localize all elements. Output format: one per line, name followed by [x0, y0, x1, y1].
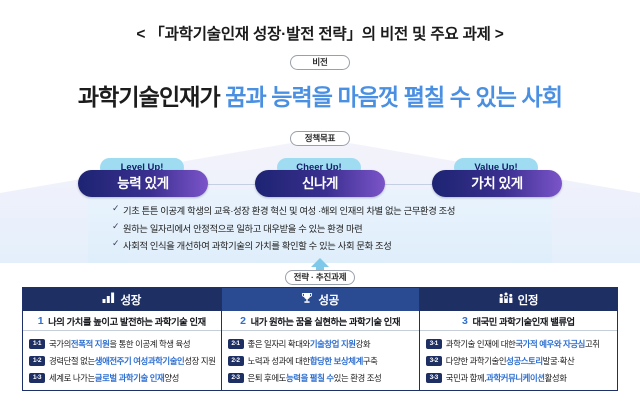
task-text-highlight: 국가적 예우와 자긍심: [515, 338, 585, 350]
bar-chart-icon: [102, 292, 115, 307]
task-badge: 1-2: [29, 356, 45, 366]
check-icon: ✓: [112, 221, 123, 232]
column-header-growth: 성장: [23, 288, 221, 311]
vision-headline: 과학기술인재가 꿈과 능력을 마음껏 펼칠 수 있는 사회: [0, 78, 640, 112]
strategy-number: 2: [240, 315, 245, 327]
task-text-suffix: 고취: [585, 338, 600, 350]
podium-people-icon: [499, 292, 513, 307]
column-header-recognition: 인정: [420, 288, 617, 311]
strategy-column-recognition: 인정 3 대국민 과학기술인재 밸류업 3-1 과학기술 인재에 대한 국가적 …: [420, 288, 617, 390]
headline-part-2: 꿈과 능력을 마음껏 펼칠 수 있는 사회: [225, 84, 562, 110]
infographic-page: < 「과학기술인재 성장·발전 전략」의 비전 및 주요 과제 > 비전 과학기…: [0, 0, 640, 405]
task-text-highlight: 전폭적 지원: [71, 338, 109, 350]
task-text-prefix: 세계로 나가는: [49, 372, 95, 384]
task-text-prefix: 경력단절 없는: [49, 355, 95, 367]
checklist-item: ✓ 원하는 일자리에서 안정적으로 일하고 대우받을 수 있는 환경 마련: [112, 221, 542, 235]
strategy-task-pill: 전략 · 추진과제: [285, 270, 355, 285]
task-text-suffix: 성장 지원: [184, 355, 215, 367]
task-row[interactable]: 3-3 국민과 함께, 과학커뮤니케이션 활성화: [426, 369, 612, 386]
page-title: < 「과학기술인재 성장·발전 전략」의 비전 및 주요 과제 >: [0, 22, 640, 44]
task-text-highlight: 능력을 펼칠 수: [286, 372, 334, 384]
task-list: 3-1 과학기술 인재에 대한 국가적 예우와 자긍심 고취 3-2 다양한 과…: [420, 331, 617, 386]
strategy-number: 1: [38, 315, 43, 327]
task-row[interactable]: 2-2 노력과 성과에 대한 합당한 보상체계 구축: [228, 352, 414, 369]
strategy-column-growth: 성장 1 나의 가치를 높이고 발전하는 과학기술 인재 1-1 국가의 전폭적…: [23, 288, 222, 390]
vision-pill: 비전: [290, 55, 350, 70]
task-text-prefix: 다양한 과학기술인: [446, 355, 506, 367]
task-text-highlight: 생애전주기 여성과학기술인: [95, 355, 185, 367]
strategy-title-row: 1 나의 가치를 높이고 발전하는 과학기술 인재: [23, 311, 221, 331]
task-row[interactable]: 1-3 세계로 나가는 글로벌 과학기술 인재 양성: [29, 369, 216, 386]
task-row[interactable]: 3-2 다양한 과학기술인 성공스토리 발굴·확산: [426, 352, 612, 369]
task-badge: 3-3: [426, 373, 442, 383]
strategy-title-row: 2 내가 원하는 꿈을 실현하는 과학기술 인재: [222, 311, 419, 331]
check-icon: ✓: [112, 203, 123, 214]
policy-goal-pill: 정책목표: [290, 131, 350, 146]
policy-goal-checklist: ✓ 기초 튼튼 이공계 학생의 교육·성장 환경 혁신 및 여성 ·해외 인재의…: [112, 203, 542, 256]
task-text-highlight: 성공스토리: [506, 355, 543, 367]
task-text-prefix: 은퇴 후에도: [248, 372, 286, 384]
task-list: 1-1 국가의 전폭적 지원 을 통한 이공계 학생 육성 1-2 경력단절 없…: [23, 331, 221, 386]
task-text-suffix: 구축: [363, 355, 378, 367]
task-text-suffix: 을 통한 이공계 학생 육성: [109, 338, 190, 350]
goal-pill-value-up: 가치 있게: [432, 170, 562, 197]
checklist-item-text: 기초 튼튼 이공계 학생의 교육·성장 환경 혁신 및 여성 ·해외 인재의 차…: [123, 203, 455, 217]
strategy-title: 나의 가치를 높이고 발전하는 과학기술 인재: [48, 314, 206, 328]
task-text-suffix: 발굴·확산: [543, 355, 575, 367]
checklist-item: ✓ 사회적 인식을 개선하여 과학기술의 가치를 확인할 수 있는 사회 문화 …: [112, 238, 542, 252]
task-badge: 1-3: [29, 373, 45, 383]
strategy-number: 3: [462, 315, 467, 327]
checklist-item-text: 사회적 인식을 개선하여 과학기술의 가치를 확인할 수 있는 사회 문화 조성: [123, 238, 391, 252]
goal-connector-1: [205, 184, 259, 185]
column-header-label: 성공: [318, 292, 339, 308]
column-header-label: 성장: [120, 292, 141, 308]
task-badge: 2-2: [228, 356, 244, 366]
task-text-highlight: 기술창업 지원: [310, 338, 356, 350]
task-text-suffix: 양성: [164, 372, 179, 384]
strategy-title: 대국민 과학기술인재 밸류업: [473, 314, 575, 328]
strategy-title: 내가 원하는 꿈을 실현하는 과학기술 인재: [251, 314, 401, 328]
goal-pill-level-up: 능력 있게: [78, 170, 208, 197]
task-badge: 3-1: [426, 339, 442, 349]
strategy-table: 성장 1 나의 가치를 높이고 발전하는 과학기술 인재 1-1 국가의 전폭적…: [22, 287, 618, 391]
task-row[interactable]: 2-3 은퇴 후에도 능력을 펼칠 수 있는 환경 조성: [228, 369, 414, 386]
checklist-item-text: 원하는 일자리에서 안정적으로 일하고 대우받을 수 있는 환경 마련: [123, 221, 362, 235]
goal-pill-cheer-up: 신나게: [255, 170, 385, 197]
column-header-label: 인정: [518, 292, 539, 308]
trophy-icon: [301, 292, 313, 307]
task-text-prefix: 좋은 일자리 확대와: [248, 338, 310, 350]
task-list: 2-1 좋은 일자리 확대와 기술창업 지원 강화 2-2 노력과 성과에 대한…: [222, 331, 419, 386]
task-badge: 1-1: [29, 339, 45, 349]
column-header-success: 성공: [222, 288, 419, 311]
task-row[interactable]: 1-2 경력단절 없는 생애전주기 여성과학기술인 성장 지원: [29, 352, 216, 369]
task-text-suffix: 있는 환경 조성: [334, 372, 382, 384]
headline-part-1: 과학기술인재가: [78, 84, 220, 110]
strategy-column-success: 성공 2 내가 원하는 꿈을 실현하는 과학기술 인재 2-1 좋은 일자리 확…: [222, 288, 420, 390]
task-badge: 2-1: [228, 339, 244, 349]
checklist-item: ✓ 기초 튼튼 이공계 학생의 교육·성장 환경 혁신 및 여성 ·해외 인재의…: [112, 203, 542, 217]
task-row[interactable]: 1-1 국가의 전폭적 지원 을 통한 이공계 학생 육성: [29, 335, 216, 352]
task-badge: 2-3: [228, 373, 244, 383]
task-text-prefix: 국가의: [49, 338, 71, 350]
task-text-highlight: 글로벌 과학기술 인재: [95, 372, 165, 384]
task-badge: 3-2: [426, 356, 442, 366]
task-text-prefix: 국민과 함께,: [446, 372, 486, 384]
task-row[interactable]: 2-1 좋은 일자리 확대와 기술창업 지원 강화: [228, 335, 414, 352]
task-text-suffix: 활성화: [545, 372, 567, 384]
task-text-highlight: 합당한 보상체계: [310, 355, 363, 367]
goal-connector-2: [382, 184, 436, 185]
task-text-suffix: 강화: [356, 338, 371, 350]
check-icon: ✓: [112, 238, 123, 249]
task-text-prefix: 노력과 성과에 대한: [248, 355, 310, 367]
task-text-prefix: 과학기술 인재에 대한: [446, 338, 516, 350]
task-row[interactable]: 3-1 과학기술 인재에 대한 국가적 예우와 자긍심 고취: [426, 335, 612, 352]
task-text-highlight: 과학커뮤니케이션: [486, 372, 544, 384]
strategy-title-row: 3 대국민 과학기술인재 밸류업: [420, 311, 617, 331]
